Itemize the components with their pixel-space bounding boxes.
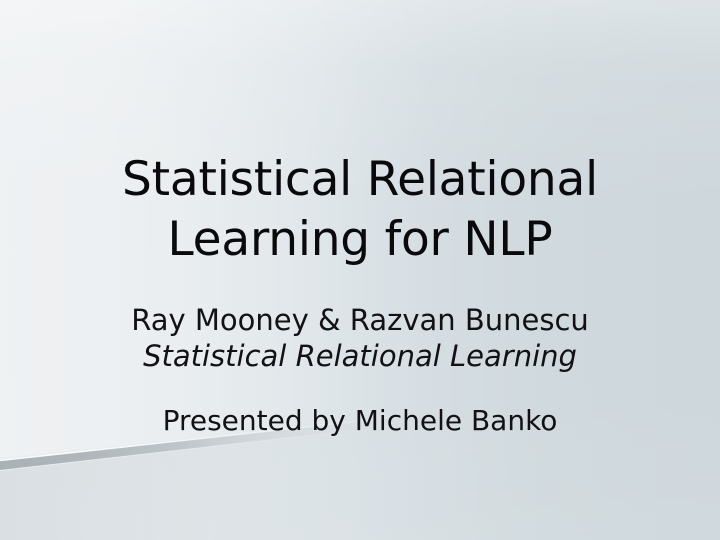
diagonal-swoosh [0, 0, 720, 540]
title-line-1: Statistical Relational [0, 150, 720, 210]
presentation-slide: Statistical Relational Learning for NLP … [0, 0, 720, 540]
subtitle-spacer [0, 374, 720, 403]
slide-background-sheen [0, 0, 720, 540]
presenter-credit: Presented by Michele Banko [0, 403, 720, 439]
title-line-2: Learning for NLP [0, 210, 720, 270]
subtitle-source-title: Statistical Relational Learning [0, 338, 720, 374]
slide-title: Statistical Relational Learning for NLP [0, 150, 720, 270]
subtitle-authors: Ray Mooney & Razvan Bunescu [0, 302, 720, 338]
slide-subtitle: Ray Mooney & Razvan Bunescu Statistical … [0, 302, 720, 439]
